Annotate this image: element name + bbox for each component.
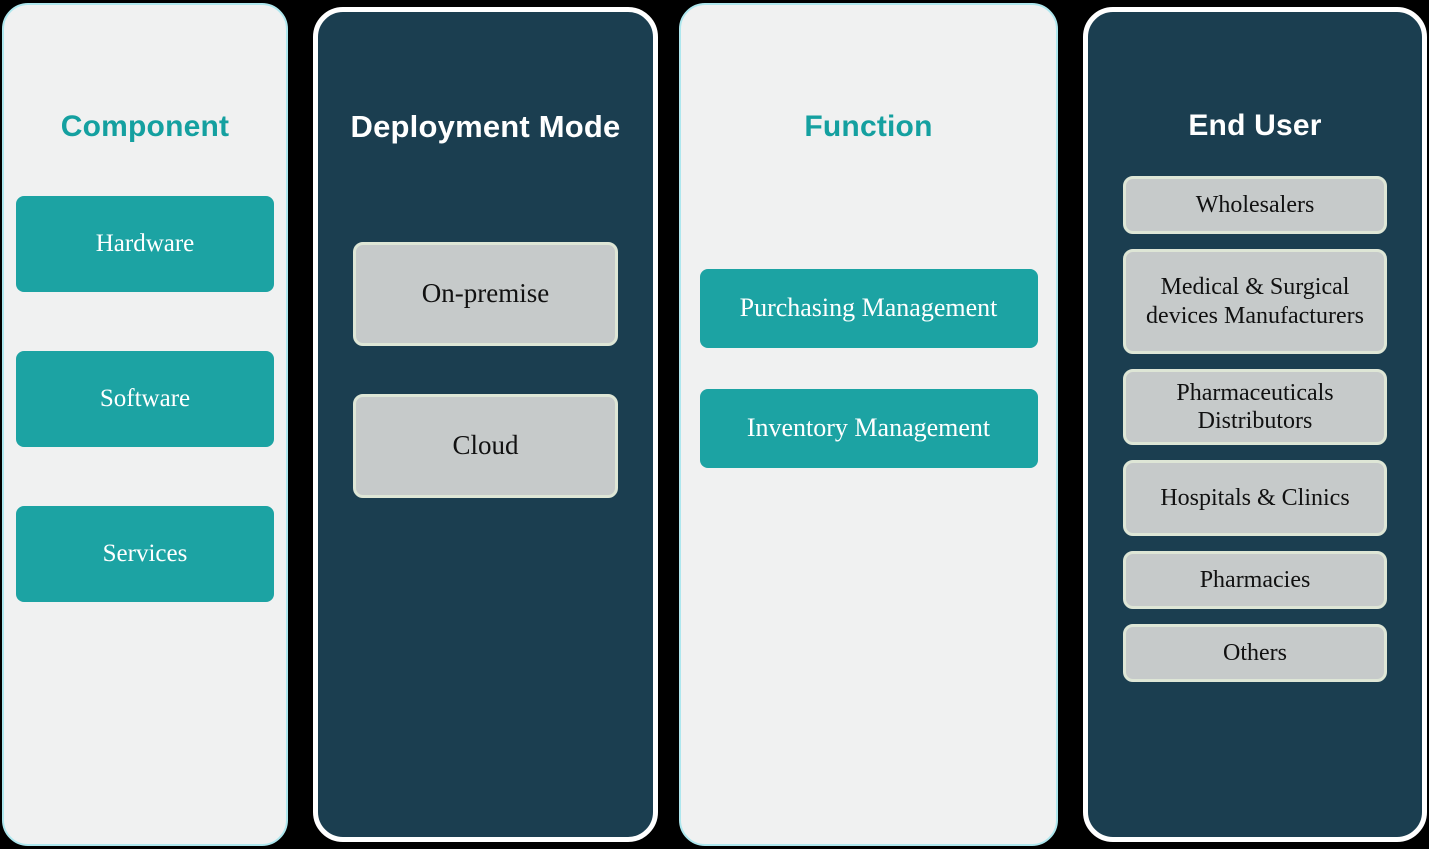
column-items-component: Hardware Software Services <box>4 196 286 602</box>
item-label: Pharmaceuticals Distributors <box>1134 379 1376 436</box>
column-title-end-user: End User <box>1088 109 1422 143</box>
column-title-function: Function <box>681 110 1056 144</box>
item-hardware[interactable]: Hardware <box>16 196 274 292</box>
item-on-premise[interactable]: On-premise <box>353 242 618 346</box>
item-label: Hardware <box>96 229 195 259</box>
item-label: Pharmacies <box>1200 566 1311 594</box>
item-label: On-premise <box>422 278 549 310</box>
item-label: Hospitals & Clinics <box>1160 484 1349 512</box>
item-label: Wholesalers <box>1196 191 1315 219</box>
column-card-function[interactable]: Function Purchasing Management Inventory… <box>679 3 1058 846</box>
column-card-deployment-mode[interactable]: Deployment Mode On-premise Cloud <box>313 7 658 842</box>
item-label: Software <box>100 384 190 414</box>
item-label: Others <box>1223 639 1287 667</box>
item-label: Medical & Surgical devices Manufacturers <box>1134 273 1376 330</box>
item-pharmaceuticals-distributors[interactable]: Pharmaceuticals Distributors <box>1123 369 1387 445</box>
item-cloud[interactable]: Cloud <box>353 394 618 498</box>
item-label: Services <box>103 539 188 569</box>
item-purchasing-management[interactable]: Purchasing Management <box>700 269 1038 348</box>
item-software[interactable]: Software <box>16 351 274 447</box>
column-items-end-user: Wholesalers Medical & Surgical devices M… <box>1088 176 1422 682</box>
item-pharmacies[interactable]: Pharmacies <box>1123 551 1387 609</box>
column-card-component[interactable]: Component Hardware Software Services <box>2 3 288 846</box>
item-medical-surgical-devices-manufacturers[interactable]: Medical & Surgical devices Manufacturers <box>1123 249 1387 354</box>
column-items-deployment-mode: On-premise Cloud <box>318 242 653 498</box>
item-hospitals-clinics[interactable]: Hospitals & Clinics <box>1123 460 1387 536</box>
item-others[interactable]: Others <box>1123 624 1387 682</box>
column-title-deployment-mode: Deployment Mode <box>318 109 653 145</box>
item-label: Inventory Management <box>747 413 990 444</box>
item-wholesalers[interactable]: Wholesalers <box>1123 176 1387 234</box>
item-label: Cloud <box>452 430 518 462</box>
column-card-end-user[interactable]: End User Wholesalers Medical & Surgical … <box>1083 7 1427 842</box>
segmentation-diagram: Component Hardware Software Services Dep… <box>0 0 1429 849</box>
item-label: Purchasing Management <box>740 293 998 324</box>
column-title-component: Component <box>4 110 286 144</box>
item-inventory-management[interactable]: Inventory Management <box>700 389 1038 468</box>
item-services[interactable]: Services <box>16 506 274 602</box>
column-items-function: Purchasing Management Inventory Manageme… <box>681 269 1056 468</box>
